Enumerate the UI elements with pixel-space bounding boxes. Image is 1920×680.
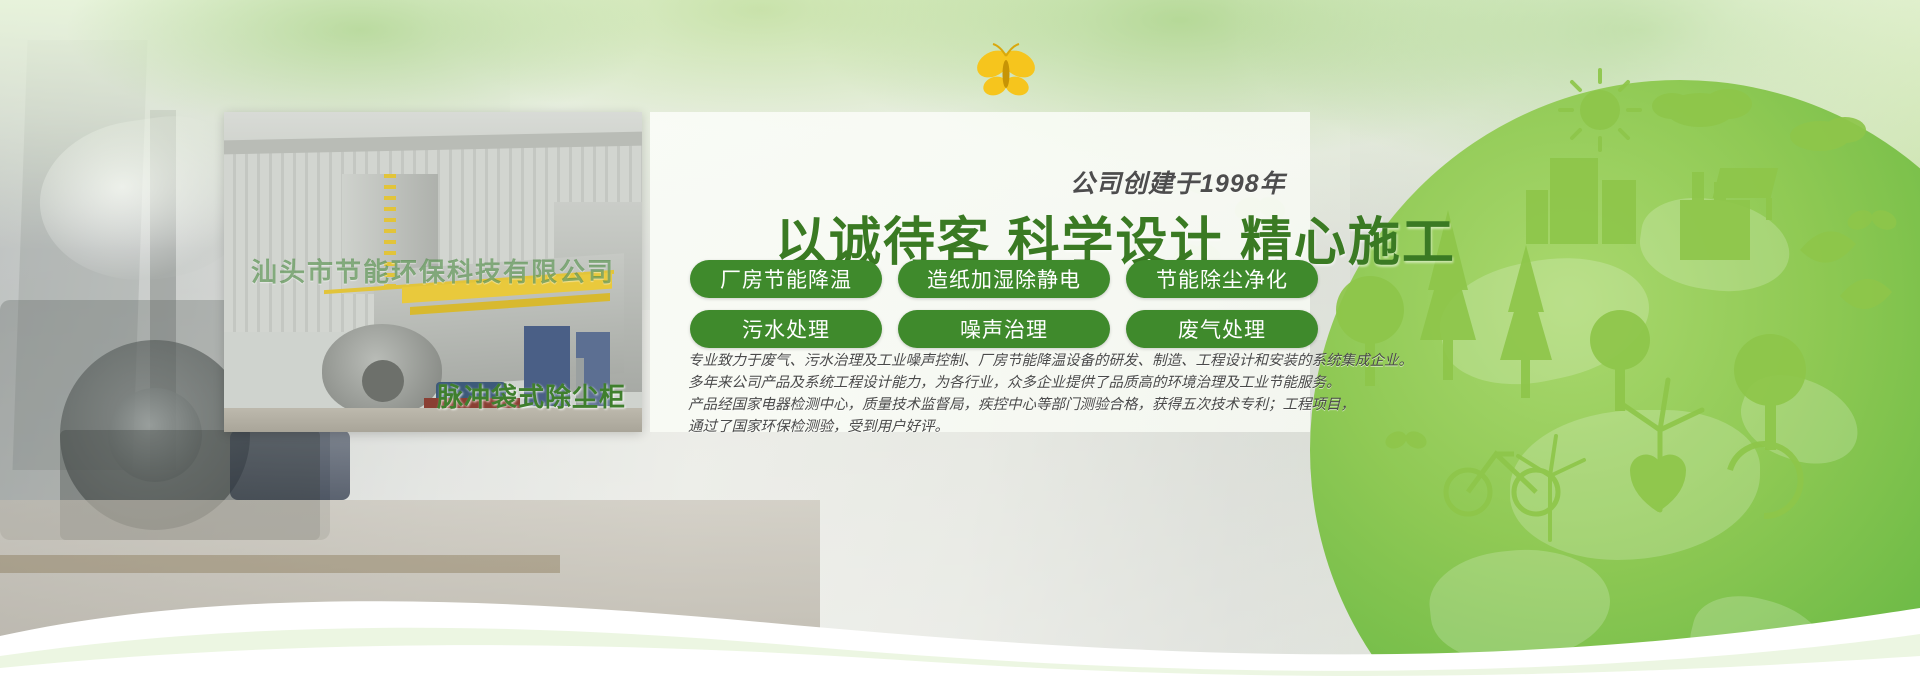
service-tag-noise-control[interactable]: 噪声治理 [898,310,1110,348]
service-tag-dust-purification[interactable]: 节能除尘净化 [1126,260,1318,298]
service-tag-waste-gas-treatment[interactable]: 废气处理 [1126,310,1318,348]
description-line-3: 产品经国家电器检测中心，质量技术监督局，疾控中心等部门测验合格，获得五次技术专利… [688,394,1328,416]
description-line-1: 专业致力于废气、污水治理及工业噪声控制、厂房节能降温设备的研发、制造、工程设计和… [688,350,1328,372]
service-tag-row-2: 污水处理 噪声治理 废气处理 [690,310,1310,348]
hero-banner: 汕头市节能环保科技有限公司 脉冲袋式除尘柜 公司创建于1998年 以诚待客 科学… [0,0,1920,680]
service-tag-factory-cooling[interactable]: 厂房节能降温 [690,260,882,298]
description-line-4: 通过了国家环保检测验，受到用户好评。 [688,416,1328,438]
established-year-label: 公司创建于1998年 [1070,164,1286,200]
service-tag-list: 厂房节能降温 造纸加湿除静电 节能除尘净化 污水处理 噪声治理 废气处理 [690,260,1310,360]
photo-watermark: 汕头市节能环保科技有限公司 [232,252,634,289]
content-panel: 公司创建于1998年 以诚待客 科学设计 精心施工 厂房节能降温 造纸加湿除静电… [650,112,1650,552]
photo-caption: 脉冲袋式除尘柜 [437,377,626,414]
company-description: 专业致力于废气、污水治理及工业噪声控制、厂房节能降温设备的研发、制造、工程设计和… [688,350,1328,438]
bg-rail-shape [0,555,560,573]
service-tag-sewage-treatment[interactable]: 污水处理 [690,310,882,348]
product-photo-card[interactable]: 汕头市节能环保科技有限公司 脉冲袋式除尘柜 [224,112,642,432]
photo-blower-hub [362,360,404,402]
service-tag-paper-humidify-antistatic[interactable]: 造纸加湿除静电 [898,260,1110,298]
service-tag-row-1: 厂房节能降温 造纸加湿除静电 节能除尘净化 [690,260,1310,298]
map-landmass [1425,541,1616,669]
map-landmass [1681,584,1839,680]
map-landmass [1634,190,1795,300]
description-line-2: 多年来公司产品及系统工程设计能力，为各行业，众多企业提供了品质高的环境治理及工业… [688,372,1328,394]
yellow-butterfly-icon [965,40,1045,110]
